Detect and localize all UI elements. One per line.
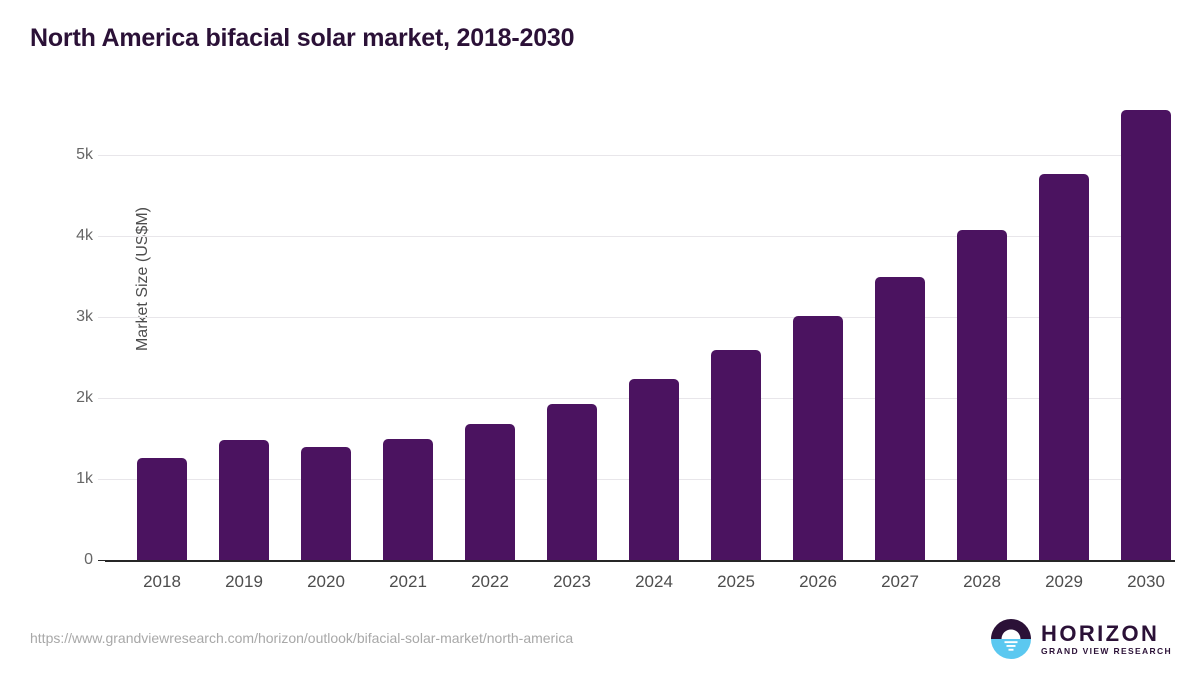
bar-2027[interactable] [875,277,925,561]
bar-2022[interactable] [465,424,515,560]
plot-area: Market Size (US$M) 01k2k3k4k5k 201820192… [105,100,1175,560]
bar-group [285,100,367,560]
horizon-logo-text: HORIZON GRAND VIEW RESEARCH [1041,622,1172,656]
x-axis-tick-label-2027: 2027 [859,572,941,592]
chart-card: North America bifacial solar market, 201… [0,0,1200,675]
bar-group [449,100,531,560]
x-axis-tick-label-2029: 2029 [1023,572,1105,592]
bar-2020[interactable] [301,447,351,560]
bar-group [367,100,449,560]
y-axis-tick-label: 5k [33,146,93,164]
y-axis-tick-mark [98,236,105,237]
bar-2025[interactable] [711,350,761,560]
y-axis-tick-label: 3k [33,308,93,326]
y-axis-tick-label: 4k [33,227,93,245]
x-axis-tick-label-2023: 2023 [531,572,613,592]
x-axis-tick-label-2020: 2020 [285,572,367,592]
x-axis-tick-label-2021: 2021 [367,572,449,592]
logo-tagline: GRAND VIEW RESEARCH [1041,646,1172,656]
bar-2023[interactable] [547,404,597,560]
bar-group [531,100,613,560]
x-axis-tick-label-2025: 2025 [695,572,777,592]
x-axis-tick-label-2026: 2026 [777,572,859,592]
y-axis-tick-label: 2k [33,389,93,407]
bar-2030[interactable] [1121,110,1171,560]
bar-group [859,100,941,560]
bar-2019[interactable] [219,440,269,560]
page-title: North America bifacial solar market, 201… [30,24,574,53]
bar-group [1105,100,1187,560]
bar-group [777,100,859,560]
x-axis-tick-label-2028: 2028 [941,572,1023,592]
bar-group [203,100,285,560]
logo-wordmark: HORIZON [1041,622,1172,645]
y-axis-tick-mark [98,317,105,318]
y-axis-tick-mark [98,479,105,480]
y-axis-tick-mark [98,560,105,561]
y-axis-tick-label: 1k [33,470,93,488]
bar-2026[interactable] [793,316,843,560]
bar-group [613,100,695,560]
bar-2021[interactable] [383,439,433,560]
x-axis-tick-label-2024: 2024 [613,572,695,592]
x-axis-tick-label-2022: 2022 [449,572,531,592]
x-axis-tick-label-2030: 2030 [1105,572,1187,592]
bar-group [941,100,1023,560]
x-axis-tick-label-2019: 2019 [203,572,285,592]
bar-2024[interactable] [629,379,679,560]
bar-2029[interactable] [1039,174,1089,560]
y-axis-tick-mark [98,155,105,156]
y-axis-tick-label: 0 [33,551,93,569]
x-axis-line [105,560,1175,562]
bar-group [121,100,203,560]
bar-group [695,100,777,560]
bar-group [1023,100,1105,560]
source-url[interactable]: https://www.grandviewresearch.com/horizo… [30,630,573,646]
bar-series [105,100,1175,560]
y-axis-tick-mark [98,398,105,399]
bar-2028[interactable] [957,230,1007,560]
x-axis-tick-label-2018: 2018 [121,572,203,592]
horizon-logo-icon [990,618,1032,660]
bar-2018[interactable] [137,458,187,560]
horizon-logo: HORIZON GRAND VIEW RESEARCH [990,618,1172,660]
